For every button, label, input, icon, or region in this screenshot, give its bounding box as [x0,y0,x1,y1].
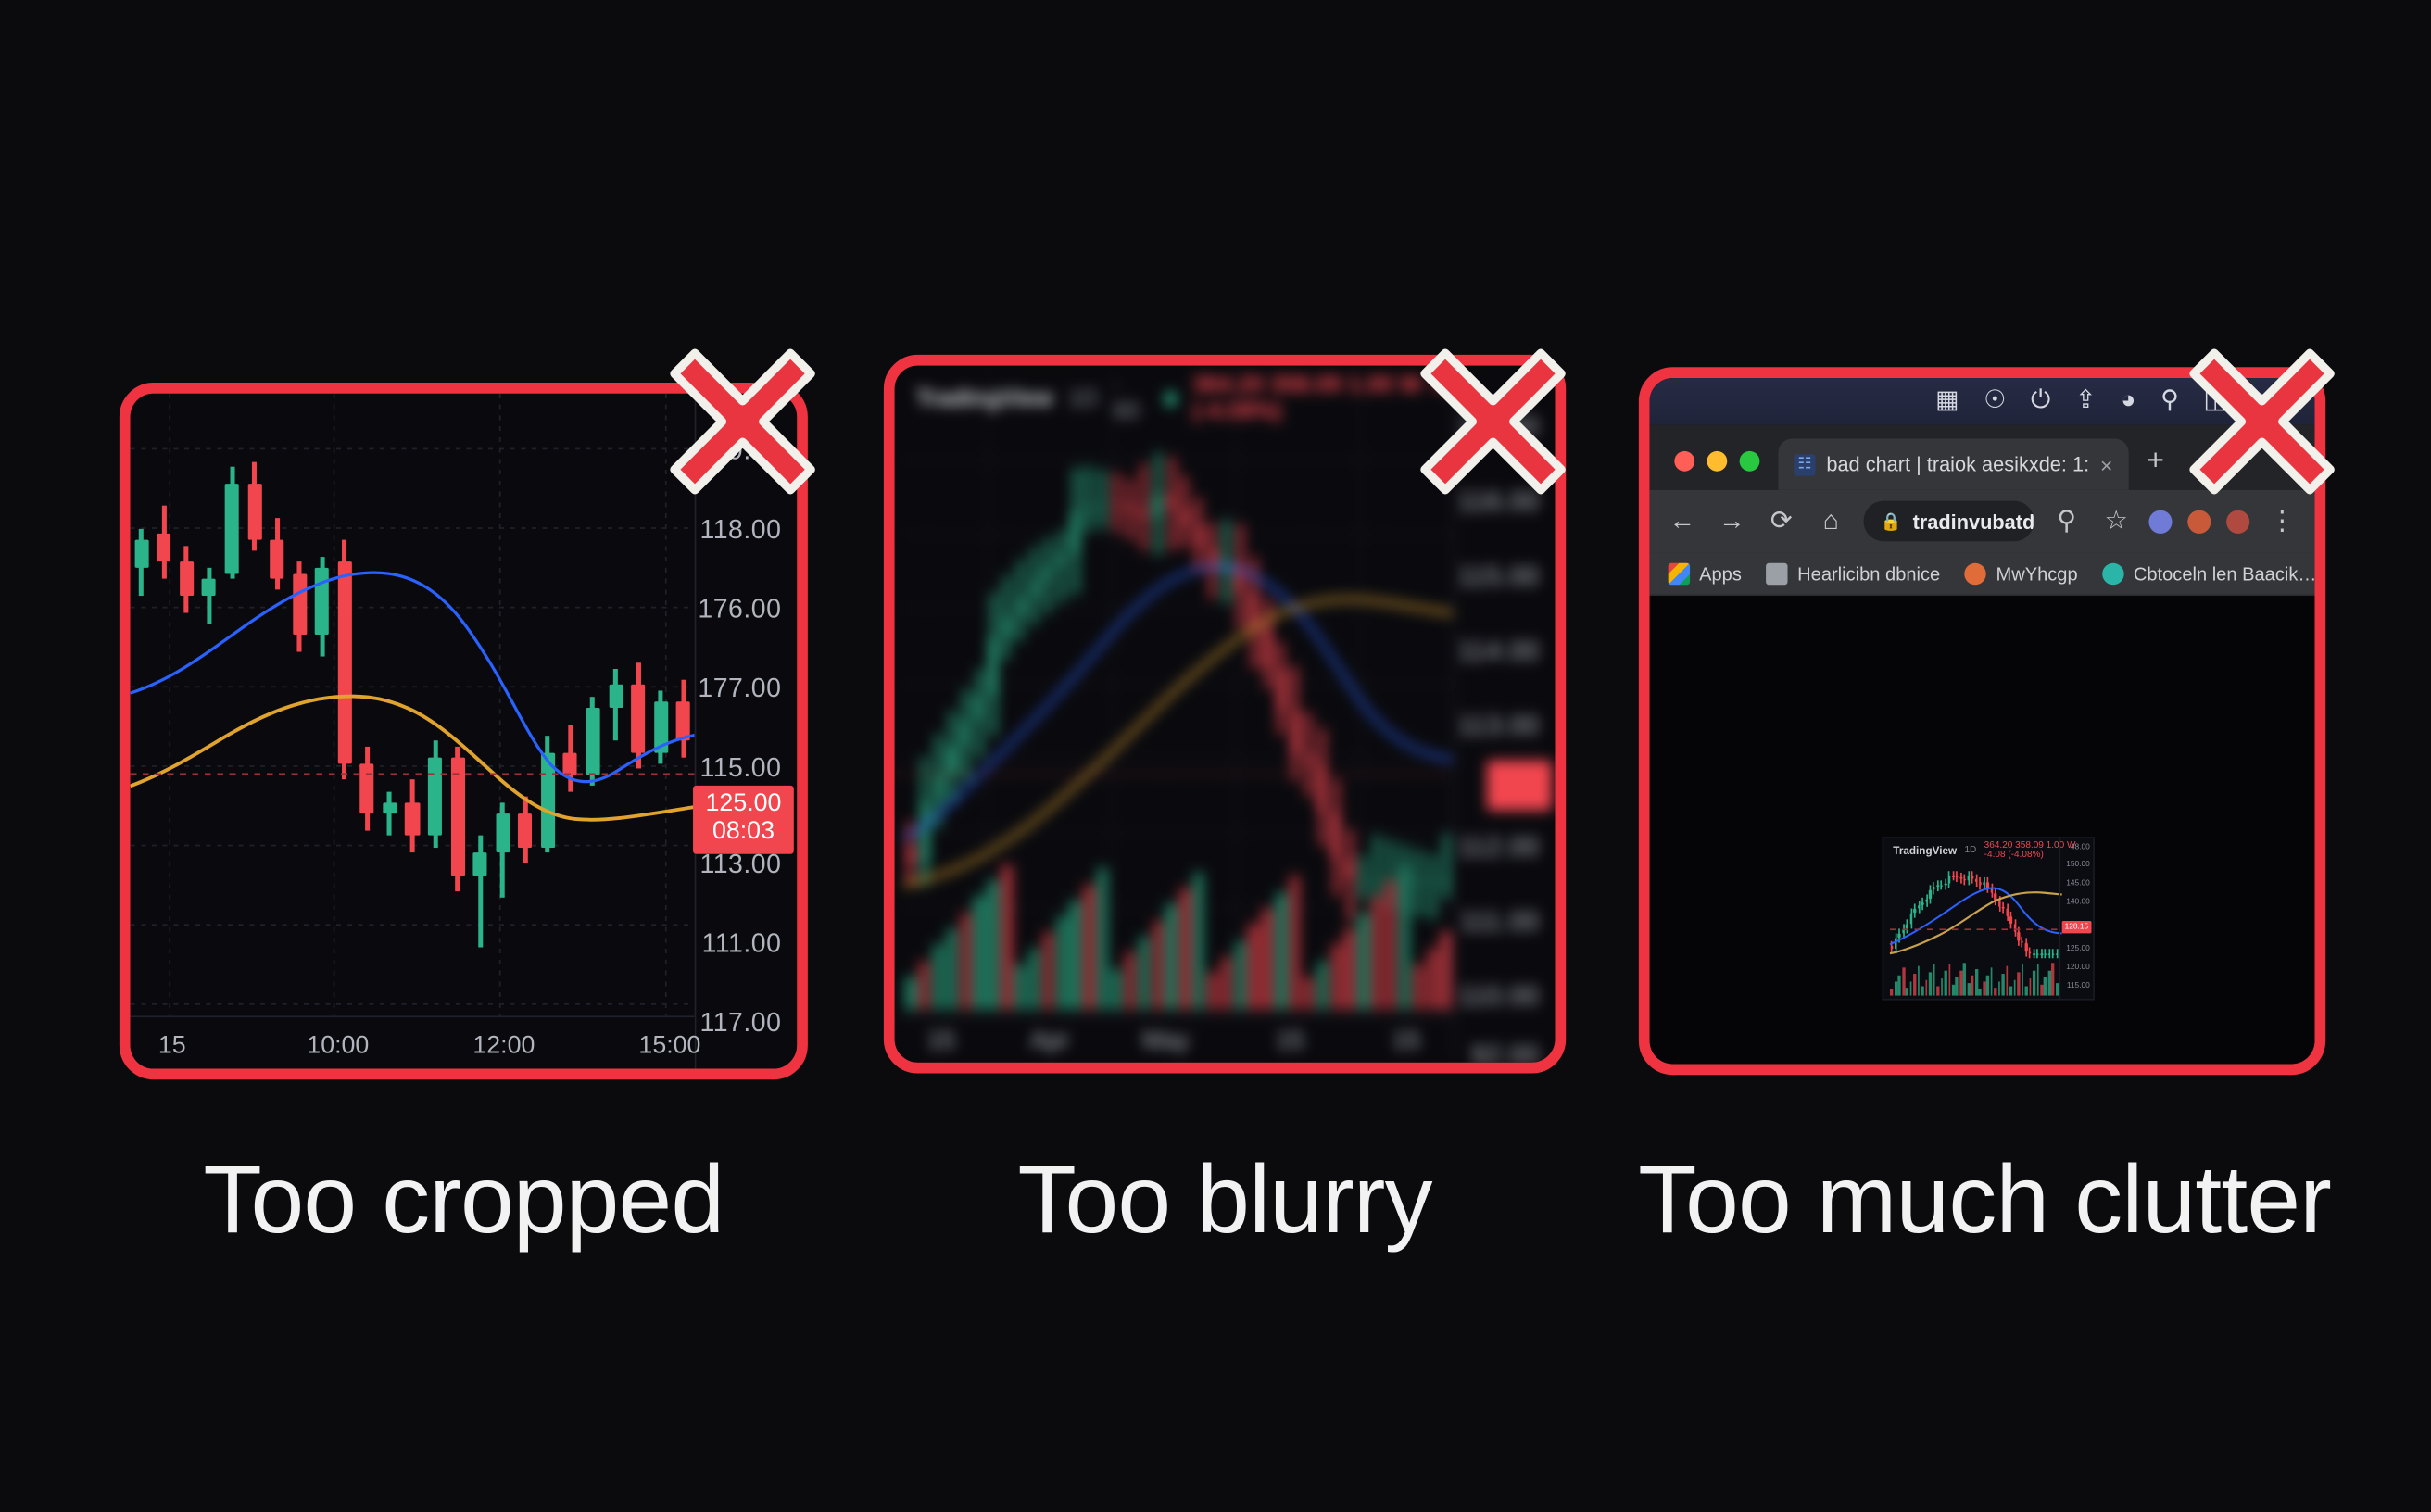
volume-bar [2017,972,2020,995]
price-tick: 111.00 [1460,907,1540,939]
extension-icon[interactable] [2187,510,2211,533]
time-axis-2[interactable]: 15 Apr May 15 15 [895,1015,1453,1062]
volume-bar [1956,977,1959,996]
current-price-badge-1: 125.00 08:03 [693,786,794,854]
volume-bar [1358,913,1368,1010]
volume-series-3 [1890,962,2059,996]
mini-price-tick: 145.00 [2066,879,2090,888]
volume-bar [1913,974,1916,996]
volume-bar [1112,969,1122,1010]
current-price-line-1 [131,773,717,775]
price-tick: 117.00 [1458,412,1540,444]
volume-bar [1979,989,1982,996]
volume-bar [1249,925,1259,1010]
mini-chart-header: TradingView 1D 364.20 358.09 1.00 W -4.0… [1893,843,2086,859]
volume-bar [1933,965,1935,996]
new-tab-button[interactable]: + [2128,445,2183,490]
zoom-window-button[interactable] [1740,451,1760,472]
volume-bar [1001,864,1012,1010]
bookmark-item[interactable]: MwYhcgp [1965,562,2078,585]
caption-too-cropped: Too cropped [120,1145,808,1255]
chart-plot-area-1: 119.00 118.00 176.00 177.00 115.00 125.0… [131,394,798,1069]
current-price-badge-2 [1486,761,1552,811]
time-axis-1[interactable]: 15 10:00 12:00 15:00 [131,1015,695,1068]
window-traffic-lights[interactable] [1669,451,1779,490]
time-tick: 15 [158,1033,186,1061]
price-tick: 118.00 [699,515,781,547]
volume-bar [1963,963,1966,996]
volume-bar [1043,933,1053,1010]
volume-bar [2002,974,2005,996]
mini-current-price-line [1890,928,2062,930]
ma-fast-line [131,573,695,782]
bookmark-item[interactable]: Hearlicibn dbnice [1767,562,1941,585]
current-price-value: 125.00 [706,790,782,819]
chart-too-cropped[interactable]: 119.00 118.00 176.00 177.00 115.00 125.0… [131,394,798,1069]
price-tick: 176.00 [698,594,781,625]
volume-bar [2048,970,2051,996]
close-window-button[interactable] [1674,451,1694,472]
extension-icon[interactable] [2226,510,2249,533]
reload-button[interactable]: ⟳ [1764,506,1798,537]
zoom-search-icon[interactable]: ⚲ [2049,506,2084,537]
volume-bar [1895,982,1897,996]
price-tick: 113.00 [699,850,781,881]
volume-bar [2044,977,2047,996]
tab-title: bad chart | traiok aesikxde: 1: [1826,453,2089,476]
volume-bar [933,945,943,1010]
lock-icon: 🔒 [1881,511,1902,532]
ma-slow-line [131,696,695,819]
price-tick: 177.00 [698,674,781,705]
volume-bar [2056,983,2059,995]
mini-price-axis[interactable]: 48.00 150.00 145.00 140.00 128.15 125.00… [2059,838,2093,999]
control-center-icon[interactable]: ▦ [1935,389,1959,414]
time-tick: 15 [1276,1028,1304,1056]
volume-bar [1936,986,1939,996]
close-tab-icon[interactable]: × [2100,453,2113,475]
volume-bar [1998,981,2001,996]
back-button[interactable]: ← [1665,506,1699,537]
volume-bar [1906,989,1908,996]
mac-menubar: ▦ ☉ ⏻ ⇪ ◕ ⚲ ◫ Wed [1650,378,2315,424]
volume-bar [1304,976,1314,1009]
chrome-menu-icon[interactable]: ⋮ [2265,506,2299,537]
ma-slow-line [904,599,1462,886]
price-tick: 113.00 [1458,711,1540,742]
tab-favicon-icon: ☷ [1794,453,1815,475]
address-bar[interactable]: 🔒 tradinvubatds.com /chetrbrredeldatf/ne… [1864,501,2034,542]
volume-bar [1331,945,1341,1010]
extra-label: · 60 [1114,372,1149,424]
moving-average-overlays-3 [1890,863,2062,957]
bookmark-star-icon[interactable]: ☆ [2099,506,2134,537]
embedded-mini-chart[interactable]: TradingView 1D 364.20 358.09 1.00 W -4.0… [1883,837,2095,1000]
ma-fast-line [1890,888,2062,945]
volume-bar [1971,976,1974,995]
apps-grid-icon [1669,562,1690,585]
price-tick: 117.00 [699,1008,781,1039]
slide-canvas: 119.00 118.00 176.00 177.00 115.00 125.0… [0,0,2431,1512]
current-price-line-2 [895,773,1466,775]
time-tick: 15 [927,1028,955,1056]
volume-bar [1925,979,1928,995]
panel-too-much-clutter: ▦ ☉ ⏻ ⇪ ◕ ⚲ ◫ Wed ☷ bad chart | traiok a… [1639,367,2325,1075]
bookmarks-bar: Apps Hearlicibn dbnice MwYhcgp Cbtoceln … [1650,552,2315,596]
mini-price-tick: 125.00 [2066,944,2090,953]
stack-icon[interactable]: ◫ [2204,389,2227,414]
mini-price-tick: 140.00 [2066,898,2090,907]
time-tick: 12:00 [472,1033,535,1061]
home-button[interactable]: ⌂ [1814,506,1848,537]
browser-window[interactable]: ▦ ☉ ⏻ ⇪ ◕ ⚲ ◫ Wed ☷ bad chart | traiok a… [1650,378,2315,1064]
mini-price-tick: 150.00 [2066,860,2090,869]
volume-bar [1986,975,1989,995]
price-tick: 92.00 [1471,1040,1540,1063]
volume-bar [1441,933,1451,1010]
volume-bar [1166,904,1177,1009]
moving-average-overlays-1 [131,394,695,993]
volume-bar [1126,952,1136,1009]
volume-bar [1290,876,1300,1010]
volume-bar [1929,972,1932,995]
panel-too-blurry: TradingView 1D · 60 364.20 358.09 1.00 W… [884,355,1566,1074]
bookmark-item[interactable]: Apps [1669,562,1742,585]
mini-price-badge: 128.15 [2061,921,2091,933]
volume-bar [1015,964,1026,1009]
volume-bar [1084,885,1094,1010]
volume-bar [975,897,985,1010]
volume-bar [1386,880,1396,1009]
chart-header-2: TradingView 1D · 60 364.20 358.09 1.00 W… [916,378,1533,419]
symbol-label: TradingView [916,385,1052,412]
volume-bar [2025,986,2028,996]
mini-price-tick: 48.00 [2071,843,2090,852]
menubar-day-label: Wed [2252,389,2297,414]
volume-bar [1427,949,1437,1010]
ma-fast-line [904,567,1462,838]
volume-bar [2006,966,2009,996]
mini-price-tick: 120.00 [2066,963,2090,972]
volume-bar [1975,969,1978,996]
volume-bar [1263,909,1273,1010]
price-tick: 110.00 [1458,981,1540,1013]
volume-bar [2036,964,2039,995]
volume-bar [2040,985,2043,996]
moving-average-overlays-2 [904,422,1462,903]
panel-too-cropped: 119.00 118.00 176.00 177.00 115.00 125.0… [120,383,808,1079]
shield-icon[interactable]: ☉ [1984,389,2006,414]
volume-bar [1139,937,1149,1010]
volume-bar [1372,897,1382,1010]
volume-bar [1945,971,1947,995]
volume-bar [919,961,929,1010]
chart-too-blurry[interactable]: TradingView 1D · 60 364.20 358.09 1.00 W… [895,366,1556,1063]
volume-bar [1317,961,1328,1010]
wifi-icon[interactable]: ◕ [2121,389,2135,414]
volume-bar [1235,940,1245,1009]
volume-bar [906,976,916,1009]
volume-bar [1208,973,1218,1010]
price-tick: 111.00 [702,928,782,960]
minimize-window-button[interactable] [1707,451,1727,472]
volume-bar [1098,868,1108,1010]
volume-bar [961,913,971,1010]
price-tick: 114.00 [1458,636,1540,668]
url-domain: tradinvubatds.com [1913,510,2034,533]
current-price-time: 08:03 [706,819,782,848]
volume-bar [1221,957,1231,1010]
volume-bar [1983,982,1985,996]
volume-bar [1959,970,1962,996]
volume-bar [1990,967,1993,995]
bookmark-label: MwYhcgp [1996,562,2077,585]
time-tick: Apr [1030,1028,1069,1056]
volume-bar [1952,985,1955,996]
blur-filter-wrapper: TradingView 1D · 60 364.20 358.09 1.00 W… [895,366,1556,1063]
volume-bar [1898,975,1901,995]
chat-icon [2102,562,2123,585]
time-tick: 15:00 [638,1033,700,1061]
volume-bar [1400,864,1410,1010]
volume-bar [1948,964,1951,995]
caption-too-much-clutter: Too much clutter [1612,1145,2356,1255]
search-icon[interactable]: ⚲ [2160,389,2179,414]
battery-icon[interactable]: ⏻ [2031,389,2050,414]
bookmark-label: Apps [1699,562,1742,585]
price-tick: 119.00 [699,435,781,467]
volume-bar [1153,921,1163,1010]
price-tick: 116.00 [1458,487,1540,519]
volume-bar [1057,916,1067,1009]
volume-bar [947,928,957,1009]
time-tick: 10:00 [307,1033,369,1061]
extension-icon[interactable] [2148,510,2172,533]
volume-bar [1345,928,1355,1009]
volume-bar [1180,888,1190,1010]
price-axis-1[interactable]: 119.00 118.00 176.00 177.00 115.00 125.0… [695,394,797,1069]
volume-bar [1918,966,1921,996]
bluetooth-icon[interactable]: ⇪ [2075,389,2096,414]
volume-bar [989,880,999,1009]
mini-price-tick: 115.00 [2067,981,2090,990]
volume-bar [1194,873,1204,1010]
volume-bar [1277,892,1287,1009]
volume-bar [1909,981,1912,996]
mini-symbol-label: TradingView [1893,846,1957,857]
volume-bar [1995,989,1997,996]
folder-icon [1767,562,1788,585]
chrome-toolbar: ← → ⟳ ⌂ 🔒 tradinvubatds.com /chetrbrrede… [1650,490,2315,552]
volume-bar [2052,963,2055,996]
interval-label: 1D [1068,385,1098,412]
volume-bar [1902,967,1905,995]
price-tick: 112.00 [1458,832,1540,863]
browser-tab[interactable]: ☷ bad chart | traiok aesikxde: 1: × [1778,438,2128,489]
caption-too-blurry: Too blurry [884,1145,1566,1255]
volume-bar [2022,965,2024,996]
forward-button[interactable]: → [1715,506,1749,537]
price-axis-2[interactable]: 117.00 116.00 115.00 114.00 113.00 112.0… [1453,366,1555,1063]
chrome-tab-strip: ☷ bad chart | traiok aesikxde: 1: × + [1650,424,2315,490]
volume-bar [2029,978,2032,995]
bookmark-label: Hearlicibn dbnice [1797,562,1940,585]
price-tick: 115.00 [1458,561,1540,593]
time-tick: 15 [1392,1028,1420,1056]
globe-icon [1965,562,1986,585]
volume-bar [2033,971,2035,995]
chart-plot-area-2: TradingView 1D · 60 364.20 358.09 1.00 W… [895,366,1556,1063]
volume-bar [1070,901,1080,1010]
volume-bar [1921,987,1924,995]
volume-bar [1414,964,1424,1009]
volume-bar [1940,978,1943,995]
volume-bar [2009,987,2012,995]
volume-bar [2013,979,2016,995]
volume-series-2 [904,860,1453,1009]
volume-bar [1029,949,1039,1010]
status-dot-icon [1165,391,1177,405]
price-tick: 115.00 [699,753,781,785]
mini-interval-label: 1D [1964,846,1976,855]
time-tick: May [1142,1028,1190,1056]
volume-bar [1967,983,1970,995]
page-content: TradingView 1D 364.20 358.09 1.00 W -4.0… [1650,596,2315,1064]
volume-bar [1891,989,1894,996]
bookmark-label: Cbtoceln len Baacik… [2134,562,2315,585]
bookmark-item[interactable]: Cbtoceln len Baacik… [2102,562,2314,585]
